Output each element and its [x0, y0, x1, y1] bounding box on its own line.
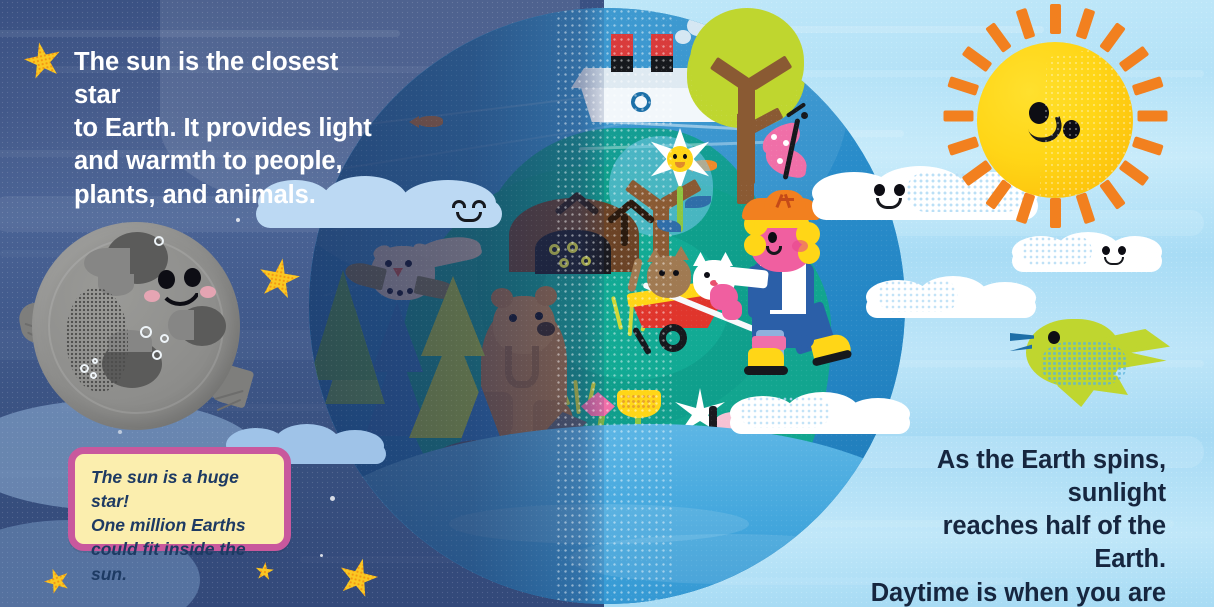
moon [20, 218, 250, 440]
girl-cheek [792, 240, 808, 252]
sun-eye-right [1063, 120, 1080, 139]
cloud-eye-right [1118, 246, 1126, 255]
moon-cheek-right [200, 286, 216, 298]
moon-cheek-left [144, 290, 160, 302]
earth-terminator-sparkle [555, 8, 675, 604]
bird-texture [1042, 341, 1126, 387]
cloud-day-plain-lower [730, 392, 910, 434]
cloud-eye-left [1102, 246, 1110, 255]
book-spread: The sun is the closest star to Earth. It… [0, 0, 1214, 607]
cloud-eye-closed-right [472, 200, 486, 208]
right-page-text: As the Earth spins, sunlight reaches hal… [866, 444, 1166, 607]
sun [955, 20, 1155, 220]
right-text-line: As the Earth spins, sunlight [866, 444, 1166, 510]
bird [1010, 305, 1170, 420]
left-page-text: The sun is the closest star to Earth. It… [74, 46, 374, 212]
fun-fact-callout: The sun is a huge star! One million Eart… [68, 447, 291, 551]
left-text-line: plants, and animals. [74, 179, 374, 212]
girl-eye [768, 232, 777, 243]
callout-line: The sun is a huge star! [91, 465, 274, 513]
callout-text: The sun is a huge star! One million Eart… [91, 465, 274, 586]
cloud-eye-left [874, 184, 885, 196]
bird-eye [1048, 331, 1060, 344]
left-text-line: and warmth to people, [74, 145, 374, 178]
callout-line: could fit inside the sun. [91, 537, 274, 585]
left-text-line: to Earth. It provides light [74, 112, 374, 145]
right-text-line: Daytime is when you are in [866, 577, 1166, 607]
moon-texture [66, 288, 128, 392]
moon-body [32, 222, 240, 430]
cloud-eye-closed-left [452, 200, 466, 208]
cloud-eye-right [894, 184, 905, 196]
cloud-day-smiling-small [1012, 232, 1162, 272]
right-text-line: reaches half of the Earth. [866, 510, 1166, 576]
sun-core [977, 42, 1133, 198]
callout-line: One million Earths [91, 513, 274, 537]
left-text-line: The sun is the closest star [74, 46, 374, 112]
